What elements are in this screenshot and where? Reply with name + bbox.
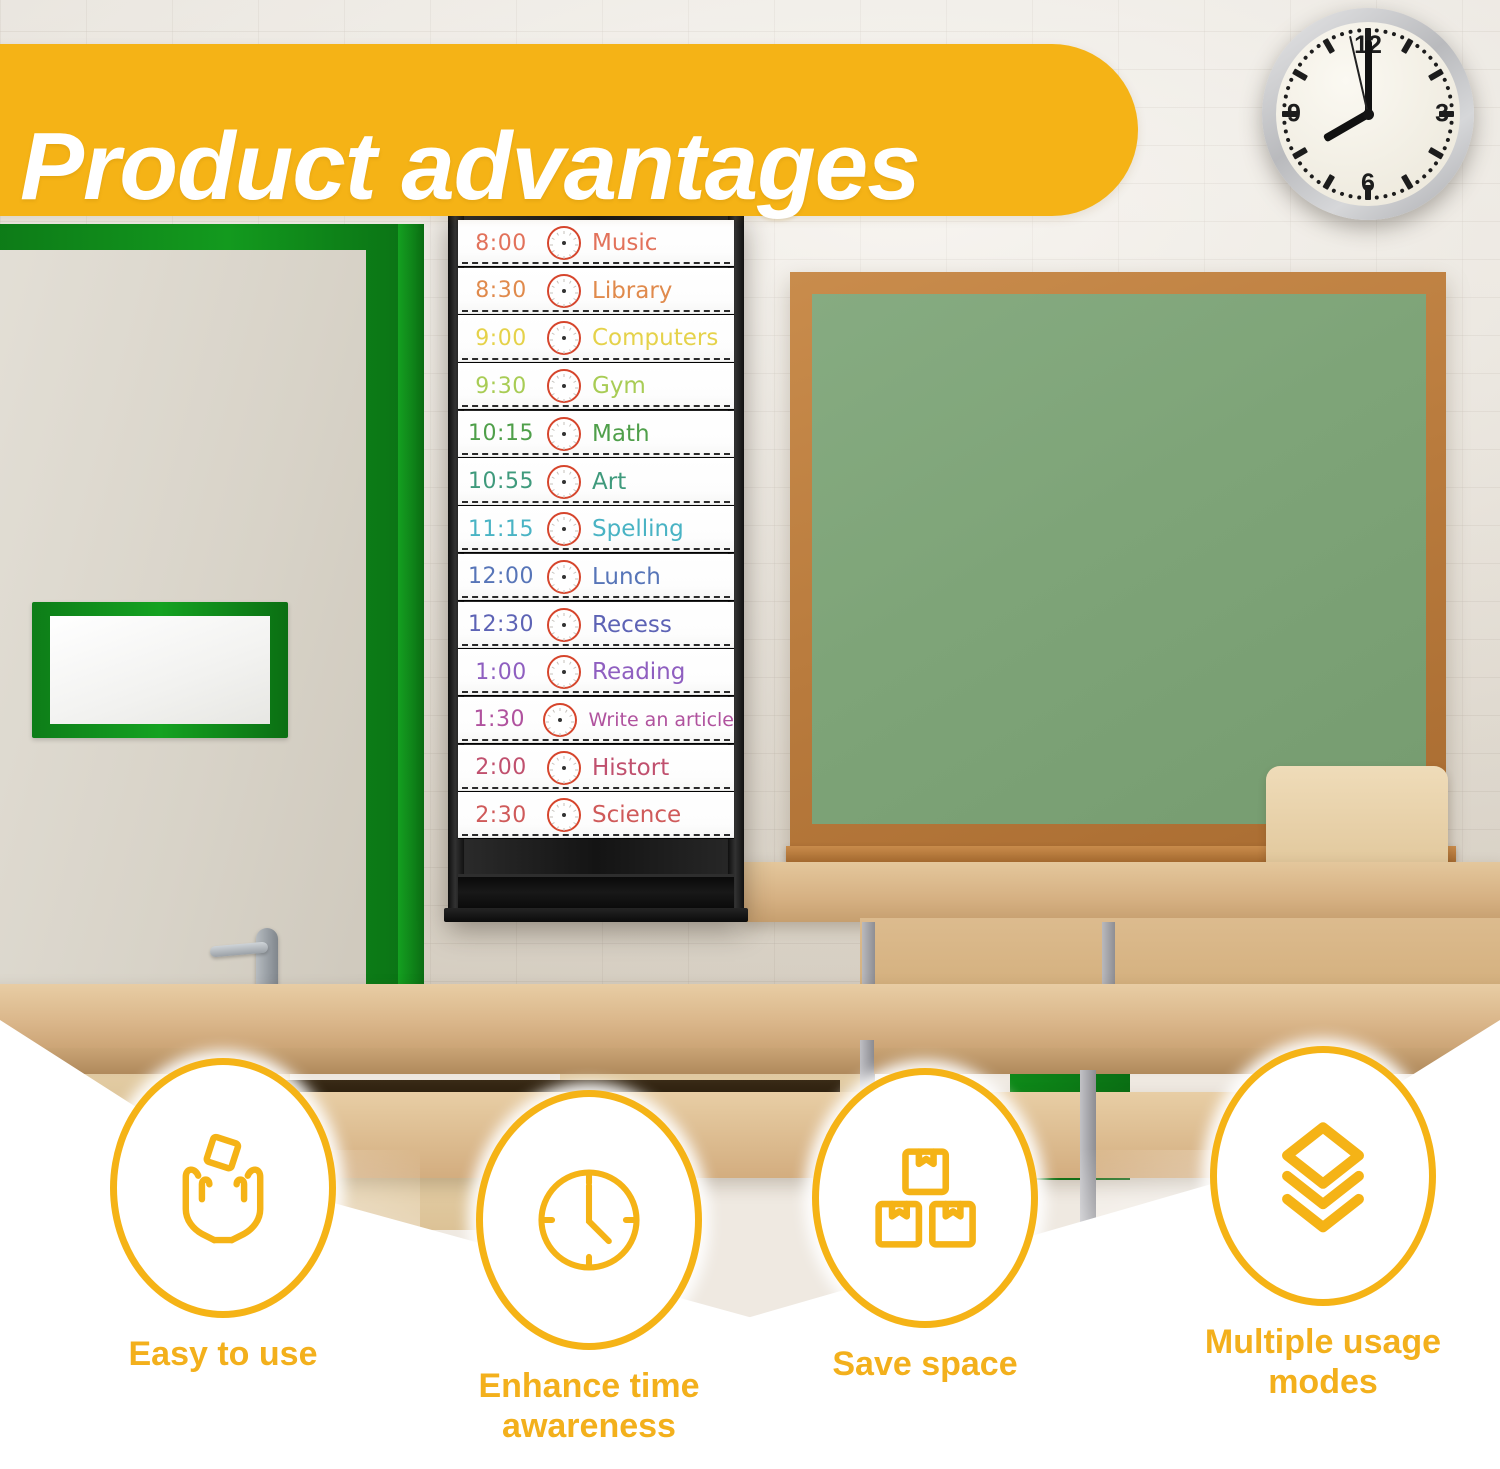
clock-tick [1421,174,1427,180]
clock-hour-mark [557,233,559,236]
clock-hour-mark [573,476,576,478]
clock-hour-mark [552,346,555,348]
feature-save-space[interactable]: Save space [810,1068,1040,1384]
clock-hour-mark [569,614,571,617]
clock-hour-mark [546,721,549,722]
clock-hour-mark [573,524,576,526]
clock-hour-mark [569,233,571,236]
feature-enhance-time-awareness[interactable]: Enhance time awareness [474,1090,704,1446]
clock-tick [1445,137,1450,142]
clock-hour-mark [560,708,561,711]
schedule-time: 10:55 [458,469,544,494]
clock-hour-mark [564,660,565,663]
schedule-activity: Histort [584,755,734,781]
clock-hour-mark [569,567,571,570]
clock-hour-mark [550,674,553,675]
schedule-time: 8:30 [458,278,544,303]
schedule-card[interactable]: 12:30Recess [458,602,734,648]
clock-hour-mark [564,685,565,688]
clock-hour-mark [569,471,571,474]
clock-hour-mark [557,588,559,591]
clock-tick [1445,86,1450,91]
clock-hour-mark [557,805,559,808]
clock-hour-mark [552,524,555,526]
clock-center-dot [562,480,566,484]
clock-hour-mark [564,470,565,473]
schedule-clock-face-icon[interactable] [544,320,584,356]
clock-hour-mark [573,489,576,491]
door-panel[interactable] [0,250,366,1000]
clock-hour-mark [573,679,576,681]
clock-tick [1415,179,1421,185]
schedule-clock-face-icon[interactable] [540,702,580,738]
clock-hour-mark [569,588,571,591]
clock-hour-mark [550,578,553,579]
clock-hour-mark [569,328,571,331]
clock-hour-mark [557,757,559,760]
clock-face: 12 3 6 9 [1276,22,1460,206]
clock-hour-mark [573,285,576,287]
clock-hour-mark [575,483,578,484]
clock-tick [1448,129,1453,134]
schedule-card-list: 8:00Music8:30Library9:00Computers9:30Gym… [458,220,734,840]
clock-hour-mark [557,614,559,617]
clock-hour-mark [573,536,576,538]
clock-hour-mark [553,731,555,734]
clock-hour-mark [552,762,555,764]
clock-hour-mark [557,280,559,283]
clock-hour-mark [573,619,576,621]
clock-hour-mark [575,578,578,579]
clock-hour-mark [564,542,565,545]
clock-hour-mark [575,435,578,436]
clock-hour-mark [564,517,565,520]
clock-tick [1297,161,1303,167]
schedule-activity: Gym [584,373,734,399]
clock-hour-mark [557,302,559,305]
clock-hour-mark [557,376,559,379]
clock-hour-mark [569,519,571,522]
clock-hour-mark [564,638,565,641]
clock-hour-mark [550,626,553,627]
clock-tick [1442,77,1447,82]
feature-icon-bubble [110,1058,336,1318]
schedule-activity: Science [584,802,734,828]
clock-tick [1303,167,1309,173]
clock-tick [1322,38,1335,54]
clock-hour-mark [564,326,565,329]
clock-tick [1286,137,1291,142]
clock-tick [1433,62,1439,68]
header-banner: Product advantages [0,44,1138,216]
clock-hour-mark [557,567,559,570]
clock-hour-mark [573,381,576,383]
clock-hour-mark [552,810,555,812]
clock-hour-mark [548,715,551,717]
clock-tick [1331,35,1336,40]
clock-hour-mark [564,422,565,425]
clock-hour-mark [557,328,559,331]
clock-hour-mark [575,340,578,341]
schedule-time: 9:00 [458,326,544,351]
clock-hour-mark [564,756,565,759]
clock-hour-mark [569,636,571,639]
schedule-activity: Computers [584,325,734,351]
clock-hour-mark [575,626,578,627]
clock-hour-mark [573,810,576,812]
clock-hour-mark [552,584,555,586]
feature-label: Enhance time awareness [474,1366,704,1446]
clock-hour-mark [564,828,565,831]
clock-tick [1421,49,1427,55]
clock-center-dot [562,575,566,579]
clock-hour-mark [552,393,555,395]
schedule-card[interactable]: 9:30Gym [458,363,734,409]
clock-tick [1292,68,1308,81]
clock-hour-mark [552,250,555,252]
clock-tick [1316,43,1322,49]
schedule-time: 1:30 [458,707,540,732]
feature-icon-bubble [1210,1046,1436,1306]
clock-tick [1383,29,1388,34]
feature-multiple-usage-modes[interactable]: Multiple usage modes [1178,1046,1468,1402]
hands-holding-icon [161,1126,285,1250]
clock-hour-mark [575,388,578,389]
clock-hour-mark [557,445,559,448]
schedule-activity: Lunch [584,564,734,590]
feature-icon-bubble [812,1068,1038,1328]
clock-hour-mark [557,254,559,257]
clock-hour-mark [564,781,565,784]
clock-center-dot [562,623,566,627]
clock-tick [1449,121,1453,125]
clock-hour-mark [564,351,565,354]
schedule-card[interactable]: 2:00Histort [458,745,734,791]
wall-clock: 12 3 6 9 [1262,8,1474,220]
clock-hour-mark [573,762,576,764]
schedule-activity: Write an article [580,709,734,731]
teacher-chair [1266,766,1448,872]
schedule-activity: Recess [584,612,734,638]
clock-tick [1415,43,1421,49]
clock-hour-mark [557,493,559,496]
clock-hour-mark [550,388,553,389]
clock-hour-mark [573,238,576,240]
schedule-card[interactable]: 12:00Lunch [458,554,734,600]
clock-hour-mark [573,250,576,252]
clock-hour-mark [552,428,555,430]
clock-tick [1348,194,1353,199]
clock-hour-mark [552,775,555,777]
clock-tick [1309,49,1315,55]
schedule-clock-face-icon[interactable] [544,225,584,261]
clock-hour-mark [573,298,576,300]
schedule-card[interactable]: 2:30Science [458,792,734,838]
clock-hour-mark [552,536,555,538]
clock-hour-mark [575,817,578,818]
schedule-clock-face-icon[interactable] [544,464,584,500]
student-desk-row-front [0,984,1500,1054]
schedule-time: 9:30 [458,374,544,399]
clock-hour-mark [569,827,571,830]
door-window-glass [50,616,270,724]
feature-easy-to-use[interactable]: Easy to use [108,1058,338,1374]
clock-hour-mark [564,495,565,498]
clock-tick [1401,38,1414,54]
schedule-clock-face-icon[interactable] [544,654,584,690]
schedule-activity: Reading [584,659,734,685]
clock-hour-mark [550,435,553,436]
clock-hour-mark [552,285,555,287]
clock-hour-mark [569,302,571,305]
clock-tick [1340,32,1345,37]
clock-hour-mark [557,684,559,687]
clock-hour-mark [569,254,571,257]
clock-hour-mark [557,827,559,830]
clock-tick [1309,174,1315,180]
clock-hour-mark [564,447,565,450]
clock-hour-mark [552,238,555,240]
clock-hour-mark [569,540,571,543]
schedule-clock-face-icon[interactable] [544,416,584,452]
clock-hour-mark [573,428,576,430]
clock-hour-mark [564,590,565,593]
clock-center-dot [562,432,566,436]
clock-icon [523,1154,655,1286]
clock-tick [1289,146,1294,151]
clock-tick [1316,179,1322,185]
layers-icon [1259,1112,1387,1240]
schedule-activity: Spelling [584,516,734,542]
chart-base-rail [444,908,748,922]
clock-tick [1433,161,1439,167]
clock-hour-mark [557,397,559,400]
clock-hour-mark [570,727,573,729]
clock-hour-mark [569,423,571,426]
clock-hour-mark [564,374,565,377]
clock-hour-mark [552,381,555,383]
schedule-card[interactable]: 11:15Spelling [458,506,734,552]
clock-hour-mark [557,662,559,665]
clock-tick [1449,103,1453,107]
clock-tick [1286,86,1291,91]
schedule-activity: Library [584,278,734,304]
clock-hour-mark [552,489,555,491]
clock-hour-mark [552,441,555,443]
clock-tick [1340,191,1345,196]
clock-hour-mark [575,245,578,246]
clock-hour-mark [566,731,568,734]
schedule-time: 10:15 [458,421,544,446]
clock-tick [1442,146,1447,151]
schedule-card[interactable]: 9:00Computers [458,315,734,361]
clock-hour-mark [573,584,576,586]
clock-tick [1297,62,1303,68]
clock-tick [1283,129,1288,134]
clock-tick [1400,188,1405,193]
product-advantages-infographic: 12 3 6 9 8:00Musi [0,0,1500,1469]
clock-hour-mark [564,803,565,806]
clock-hour-mark [560,733,561,736]
schedule-card[interactable]: 8:30Library [458,268,734,314]
schedule-card[interactable]: 1:00Reading [458,649,734,695]
schedule-activity: Art [584,469,734,495]
feature-label: Multiple usage modes [1178,1322,1468,1402]
schedule-time: 12:30 [458,612,544,637]
clock-hour-mark [569,445,571,448]
clock-hour-mark [550,483,553,484]
clock-hour-mark [569,779,571,782]
schedule-time: 2:00 [458,755,544,780]
clock-tick [1282,103,1286,107]
schedule-clock-face-icon[interactable] [544,750,584,786]
schedule-clock-face-icon[interactable] [544,607,584,643]
clock-center-dot [562,289,566,293]
clock-hour-mark [557,636,559,639]
clock-hour-mark [552,667,555,669]
clock-hour-mark [573,333,576,335]
schedule-clock-face-icon[interactable] [544,797,584,833]
clock-hour-mark [573,775,576,777]
clock-hour-mark [566,710,568,713]
clock-tick [1391,32,1396,37]
clock-hour-mark [573,822,576,824]
clock-hour-mark [552,822,555,824]
clock-center-dot [562,766,566,770]
clock-hour-mark [552,571,555,573]
clock-tick [1348,29,1353,34]
schedule-card[interactable]: 10:55Art [458,458,734,504]
clock-hour-mark [569,397,571,400]
clock-number-9: 9 [1287,100,1301,129]
schedule-time: 8:00 [458,231,544,256]
schedule-card[interactable]: 8:00Music [458,220,734,266]
clock-hour-mark [552,619,555,621]
clock-hour-mark [575,769,578,770]
clock-hour-mark [553,710,555,713]
schedule-clock-face-icon[interactable] [544,273,584,309]
teacher-desk-top [744,862,1500,922]
clock-center-pin [1363,109,1374,120]
clock-tick [1331,188,1336,193]
schedule-clock-face-icon[interactable] [544,511,584,547]
clock-hour-mark [564,231,565,234]
clock-tick [1289,77,1294,82]
clock-hour-mark [552,476,555,478]
schedule-time: 11:15 [458,517,544,542]
clock-hour-mark [569,350,571,353]
clock-tick [1283,94,1288,99]
schedule-card[interactable]: 10:15Math [458,411,734,457]
clock-tick [1428,167,1434,173]
clock-tick [1391,191,1396,196]
schedule-card[interactable]: 1:30Write an article [458,697,734,743]
clock-hour-mark [569,280,571,283]
clock-hour-mark [557,519,559,522]
clock-hour-mark [548,727,551,729]
clock-hour-mark [564,399,565,402]
clock-tick [1375,195,1379,199]
clock-hour-mark [550,340,553,341]
clock-hour-mark [569,662,571,665]
clock-hour-mark [557,423,559,426]
clock-hour-mark [564,256,565,259]
clock-hour-mark [573,441,576,443]
clock-tick [1303,55,1309,61]
clock-hour-mark [573,571,576,573]
clock-hour-mark [573,632,576,634]
clock-hour-mark [550,531,553,532]
clock-hour-mark [569,376,571,379]
clock-hour-mark [552,333,555,335]
clock-hour-mark [569,805,571,808]
clock-tick [1448,94,1453,99]
clock-hour-mark [575,531,578,532]
clock-tick [1400,35,1405,40]
clock-hour-mark [550,769,553,770]
clock-hour-mark [564,279,565,282]
clock-hour-mark [575,292,578,293]
clock-hour-mark [564,565,565,568]
schedule-time: 1:00 [458,660,544,685]
boxes-icon [864,1137,986,1259]
clock-hour-mark [573,393,576,395]
clock-hour-mark [552,679,555,681]
clock-hour-mark [552,632,555,634]
clock-tick [1428,55,1434,61]
clock-hour-mark [569,493,571,496]
clock-number-3: 3 [1435,100,1449,129]
clock-hour-mark [550,292,553,293]
feature-icon-bubble [476,1090,702,1350]
clock-hour-mark [570,715,573,717]
clock-hour-mark [571,721,574,722]
clock-hour-mark [573,346,576,348]
schedule-activity: Math [584,421,734,447]
clock-hour-mark [557,350,559,353]
clock-hour-mark [575,674,578,675]
clock-hour-mark [552,298,555,300]
schedule-activity: Music [584,230,734,256]
clock-hour-mark [557,540,559,543]
clock-hour-mark [573,667,576,669]
clock-hour-mark [564,613,565,616]
clock-hour-mark [569,684,571,687]
chalkboard-surface [812,294,1426,824]
door-window-frame [32,602,288,738]
feature-label: Easy to use [108,1334,338,1374]
daily-schedule-pocket-chart[interactable]: 8:00Music8:30Library9:00Computers9:30Gym… [448,214,744,920]
clock-hour-mark [550,817,553,818]
clock-tick [1292,147,1308,160]
chalkboard [790,272,1446,852]
schedule-clock-face-icon[interactable] [544,559,584,595]
clock-hour-mark [557,471,559,474]
schedule-clock-face-icon[interactable] [544,368,584,404]
schedule-time: 12:00 [458,564,544,589]
page-title: Product advantages [20,112,920,222]
clock-tick [1383,194,1388,199]
clock-hour-mark [550,245,553,246]
clock-hour-mark [569,757,571,760]
feature-label: Save space [810,1344,1040,1384]
clock-number-6: 6 [1361,169,1375,198]
clock-hour-mark [564,304,565,307]
clock-tick [1282,121,1286,125]
schedule-time: 2:30 [458,803,544,828]
clock-hour-mark [557,779,559,782]
